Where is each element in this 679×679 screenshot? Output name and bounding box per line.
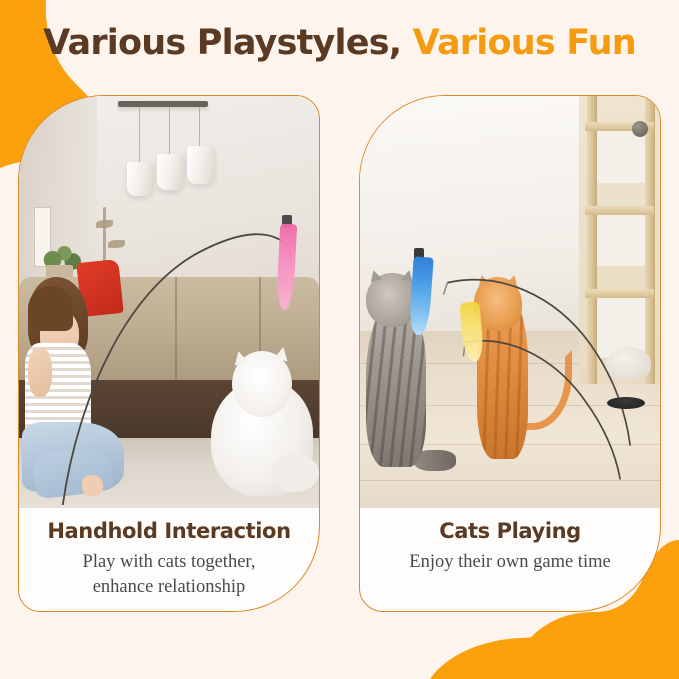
page-title: Various Playstyles, Various Fun (43, 26, 636, 61)
title-part-primary: Various Playstyles, (43, 23, 401, 63)
card-description-line1: Enjoy their own game time (374, 550, 646, 574)
photo-cats-playing (360, 96, 660, 508)
card-description-line2: enhance relationship (33, 575, 305, 599)
card-title: Handhold Interaction (33, 520, 305, 543)
feature-card-handhold[interactable]: Handhold Interaction Play with cats toge… (18, 95, 320, 612)
promo-banner: Various Playstyles, Various Fun (0, 0, 679, 679)
photo-handhold-interaction (19, 96, 319, 508)
page-title-container: Various Playstyles, Various Fun (0, 0, 679, 86)
card-caption-handhold: Handhold Interaction Play with cats toge… (19, 508, 319, 611)
card-title: Cats Playing (374, 520, 646, 543)
feature-card-list: Handhold Interaction Play with cats toge… (0, 95, 679, 615)
feature-card-cats-playing[interactable]: Cats Playing Enjoy their own game time (359, 95, 661, 612)
card-description: Enjoy their own game time (374, 550, 646, 574)
card-description: Play with cats together, enhance relatio… (33, 550, 305, 599)
title-part-accent: Various Fun (413, 23, 636, 63)
wand-rods (360, 96, 660, 505)
card-caption-cats-playing: Cats Playing Enjoy their own game time (360, 508, 660, 611)
wand-rod (19, 96, 319, 505)
card-description-line1: Play with cats together, (33, 550, 305, 574)
